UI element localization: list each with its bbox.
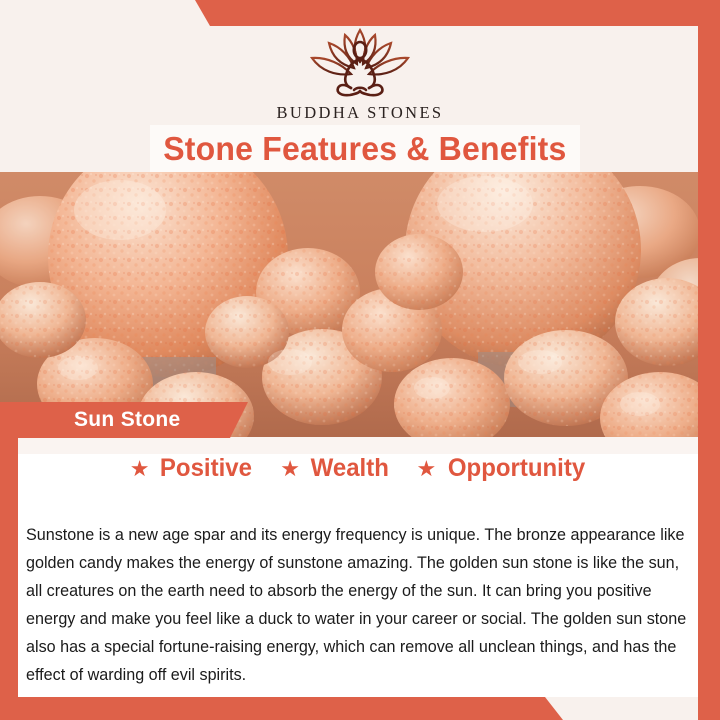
star-icon: ★ [130, 458, 150, 480]
benefit-label-wealth: Wealth [311, 454, 389, 483]
benefits-row: ★ Positive ★ Wealth ★ Opportunity [18, 454, 700, 483]
frame-right-bar [698, 0, 720, 720]
content-panel: ★ Positive ★ Wealth ★ Opportunity Sunsto… [18, 437, 720, 697]
benefit-item-wealth: ★ Wealth [280, 454, 390, 483]
description-text: Sunstone is a new age spar and its energ… [26, 521, 689, 689]
star-icon: ★ [280, 458, 300, 480]
infographic-card: BUDDHA STONES Stone Features & Benefits [0, 0, 720, 720]
page-title: Stone Features & Benefits [163, 130, 566, 168]
star-icon: ★ [417, 458, 437, 480]
panel-top-shade [18, 437, 720, 454]
frame-left-bar [0, 418, 18, 720]
product-photo [0, 172, 720, 437]
benefit-item-opportunity: ★ Opportunity [417, 454, 589, 483]
lotus-meditation-icon [285, 24, 435, 100]
benefit-label-positive: Positive [160, 454, 252, 483]
frame-bottom-bar [0, 697, 720, 720]
stone-name-ribbon: Sun Stone [0, 402, 248, 438]
brand-name: BUDDHA STONES [276, 103, 443, 123]
page-title-banner: Stone Features & Benefits [150, 125, 580, 172]
benefit-label-opportunity: Opportunity [448, 454, 585, 483]
benefit-item-positive: ★ Positive [130, 454, 255, 483]
stone-name-label: Sun Stone [74, 408, 181, 432]
brand-block: BUDDHA STONES [0, 24, 720, 123]
